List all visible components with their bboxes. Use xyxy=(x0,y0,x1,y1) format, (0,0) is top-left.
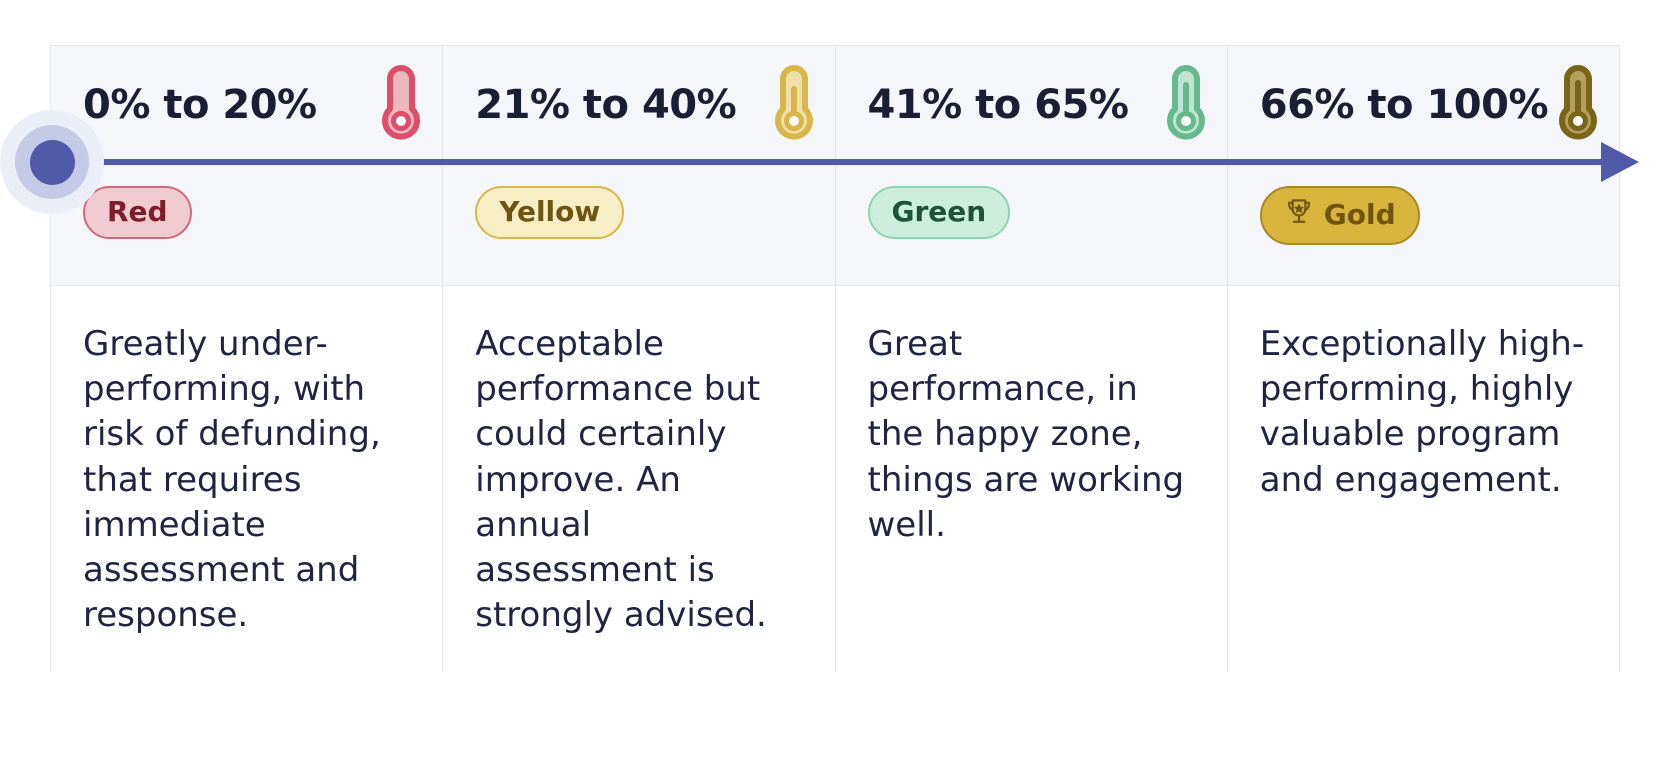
range-label-red: 0% to 20% xyxy=(83,82,317,128)
description-text-gold: Exceptionally high-performing, highly va… xyxy=(1228,286,1619,503)
badge-label-yellow: Yellow xyxy=(499,197,600,228)
badge-label-green: Green xyxy=(892,197,987,228)
thermometer-gold-icon xyxy=(1555,64,1601,146)
thermometer-red-icon xyxy=(378,64,424,146)
performance-scale-table: 0% to 20% Red 21% to xyxy=(50,45,1620,672)
progress-start-dot-core xyxy=(30,140,75,185)
table-header-row: 0% to 20% Red 21% to xyxy=(51,46,1619,286)
status-badge-yellow[interactable]: Yellow xyxy=(475,186,624,239)
scale-column-yellow: 21% to 40% Yellow xyxy=(443,46,835,285)
description-cell-gold: Exceptionally high-performing, highly va… xyxy=(1228,286,1619,672)
badge-wrap-red: Red xyxy=(51,164,442,239)
progress-start-dot-mid xyxy=(15,125,89,199)
scale-column-gold: 66% to 100% xyxy=(1228,46,1619,285)
header-top-red: 0% to 20% xyxy=(51,46,442,164)
scale-matrix-figure: 0% to 20% Red 21% to xyxy=(0,0,1667,765)
range-label-green: 41% to 65% xyxy=(868,82,1129,128)
badge-wrap-gold: Gold xyxy=(1228,164,1619,245)
trophy-icon xyxy=(1284,197,1314,234)
status-badge-gold[interactable]: Gold xyxy=(1260,186,1420,245)
badge-label-gold: Gold xyxy=(1324,200,1396,231)
description-cell-green: Great performance, in the happy zone, th… xyxy=(836,286,1228,672)
header-top-yellow: 21% to 40% xyxy=(443,46,834,164)
description-text-yellow: Acceptable performance but could certain… xyxy=(443,286,834,639)
badge-wrap-green: Green xyxy=(836,164,1227,239)
description-text-red: Greatly under-performing, with risk of d… xyxy=(51,286,442,639)
scale-column-red: 0% to 20% Red xyxy=(51,46,443,285)
range-label-yellow: 21% to 40% xyxy=(475,82,736,128)
description-cell-red: Greatly under-performing, with risk of d… xyxy=(51,286,443,672)
header-top-green: 41% to 65% xyxy=(836,46,1227,164)
progress-arrow-line xyxy=(48,159,1606,165)
status-badge-red[interactable]: Red xyxy=(83,186,192,239)
thermometer-yellow-icon xyxy=(771,64,817,146)
description-cell-yellow: Acceptable performance but could certain… xyxy=(443,286,835,672)
range-label-gold: 66% to 100% xyxy=(1260,82,1548,128)
thermometer-green-icon xyxy=(1163,64,1209,146)
status-badge-green[interactable]: Green xyxy=(868,186,1011,239)
description-text-green: Great performance, in the happy zone, th… xyxy=(836,286,1227,548)
table-body-row: Greatly under-performing, with risk of d… xyxy=(51,286,1619,672)
badge-wrap-yellow: Yellow xyxy=(443,164,834,239)
header-top-gold: 66% to 100% xyxy=(1228,46,1619,164)
right-arrow-icon xyxy=(1601,142,1639,182)
scale-column-green: 41% to 65% Green xyxy=(836,46,1228,285)
progress-start-dot-icon xyxy=(0,110,104,214)
badge-label-red: Red xyxy=(107,197,168,228)
